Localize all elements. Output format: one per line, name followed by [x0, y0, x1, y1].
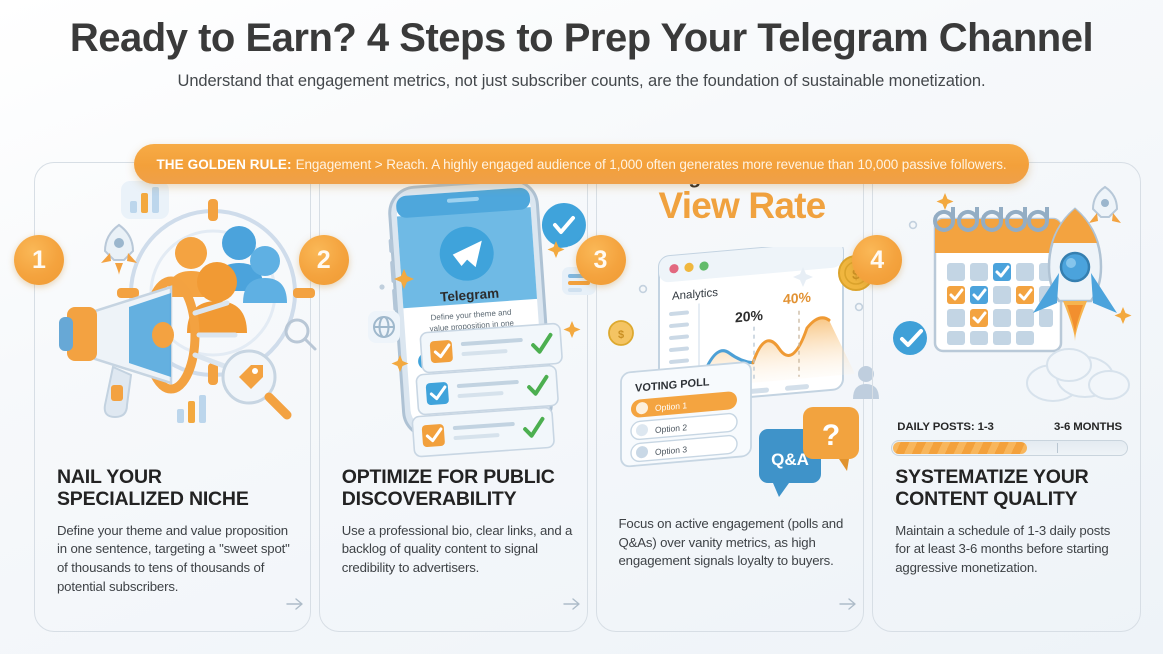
step-card-2[interactable]: 2 Telegram Define [319, 162, 588, 632]
step-1-heading-line1: NAIL YOUR [57, 466, 162, 488]
illustration-smartphone-telegram: Telegram Define your theme and value pro… [330, 181, 581, 461]
step-4-heading: SYSTEMATIZE YOUR CONTENT QUALITY [895, 467, 1126, 511]
svg-text:40%: 40% [783, 289, 812, 307]
step-1-body: Define your theme and value proposition … [57, 522, 296, 597]
step-number-badge-4: 4 [852, 235, 902, 285]
step-number-badge-2: 2 [299, 235, 349, 285]
step-number-badge-1: 1 [14, 235, 64, 285]
step-1-text: NAIL YOUR SPECIALIZED NICHE Define your … [57, 467, 296, 597]
step-4-body: Maintain a schedule of 1-3 daily posts f… [895, 522, 1126, 578]
golden-rule-text: Engagement > Reach. A highly engaged aud… [296, 157, 1007, 172]
step-3-body: Focus on active engagement (polls and Q&… [619, 515, 850, 571]
step-4-heading-line2: CONTENT QUALITY [895, 488, 1077, 510]
progress-bar [891, 440, 1128, 456]
svg-text:Q&A: Q&A [771, 450, 809, 469]
page-header: Ready to Earn? 4 Steps to Prep Your Tele… [0, 0, 1163, 91]
daily-posts-label: DAILY POSTS: 1-3 [897, 421, 994, 433]
svg-text:$: $ [617, 329, 623, 341]
svg-text:20%: 20% [735, 307, 764, 325]
step-card-1[interactable]: 1 [34, 162, 311, 632]
step-4-metric-labels: DAILY POSTS: 1-3 3-6 MONTHS [891, 421, 1128, 433]
step-4-heading-line1: SYSTEMATIZE YOUR [895, 466, 1088, 488]
step-4-text: SYSTEMATIZE YOUR CONTENT QUALITY Maintai… [895, 467, 1126, 578]
step-3-heading-big: View Rate [659, 187, 826, 225]
step-2-heading-line1: OPTIMIZE FOR PUBLIC [342, 466, 555, 488]
golden-rule-banner-wrapper: THE GOLDEN RULE: Engagement > Reach. A h… [0, 144, 1163, 184]
step-1-heading: NAIL YOUR SPECIALIZED NICHE [57, 467, 296, 511]
step-number-badge-3: 3 [576, 235, 626, 285]
step-2-body: Use a professional bio, clear links, and… [342, 522, 573, 578]
months-label: 3-6 MONTHS [1054, 421, 1122, 433]
steps-container: 1 [34, 162, 1141, 632]
page-title: Ready to Earn? 4 Steps to Prep Your Tele… [0, 16, 1163, 60]
step-1-heading-line2: SPECIALIZED NICHE [57, 488, 249, 510]
step-2-arrow-icon [563, 597, 581, 611]
golden-rule-banner: THE GOLDEN RULE: Engagement > Reach. A h… [134, 144, 1028, 184]
step-2-heading: OPTIMIZE FOR PUBLIC DISCOVERABILITY [342, 467, 573, 511]
step-4-metrics: DAILY POSTS: 1-3 3-6 MONTHS [891, 421, 1128, 456]
step-2-heading-line2: DISCOVERABILITY [342, 488, 517, 510]
step-3-text: Focus on active engagement (polls and Q&… [619, 515, 850, 571]
svg-text:?: ? [821, 419, 839, 452]
illustration-calendar-rocket [883, 181, 1134, 461]
progress-bar-fill [893, 442, 1027, 454]
progress-bar-divider [1057, 443, 1058, 453]
step-1-arrow-icon [286, 597, 304, 611]
step-card-4[interactable]: 4 [872, 162, 1141, 632]
step-3-arrow-icon [839, 597, 857, 611]
golden-rule-label: THE GOLDEN RULE: [156, 157, 291, 172]
step-2-text: OPTIMIZE FOR PUBLIC DISCOVERABILITY Use … [342, 467, 573, 578]
page-subtitle: Understand that engagement metrics, not … [0, 72, 1163, 91]
illustration-megaphone-audience [45, 181, 304, 461]
step-card-3[interactable]: 3 Target a 20-40% View Rate Analytics [596, 162, 865, 632]
